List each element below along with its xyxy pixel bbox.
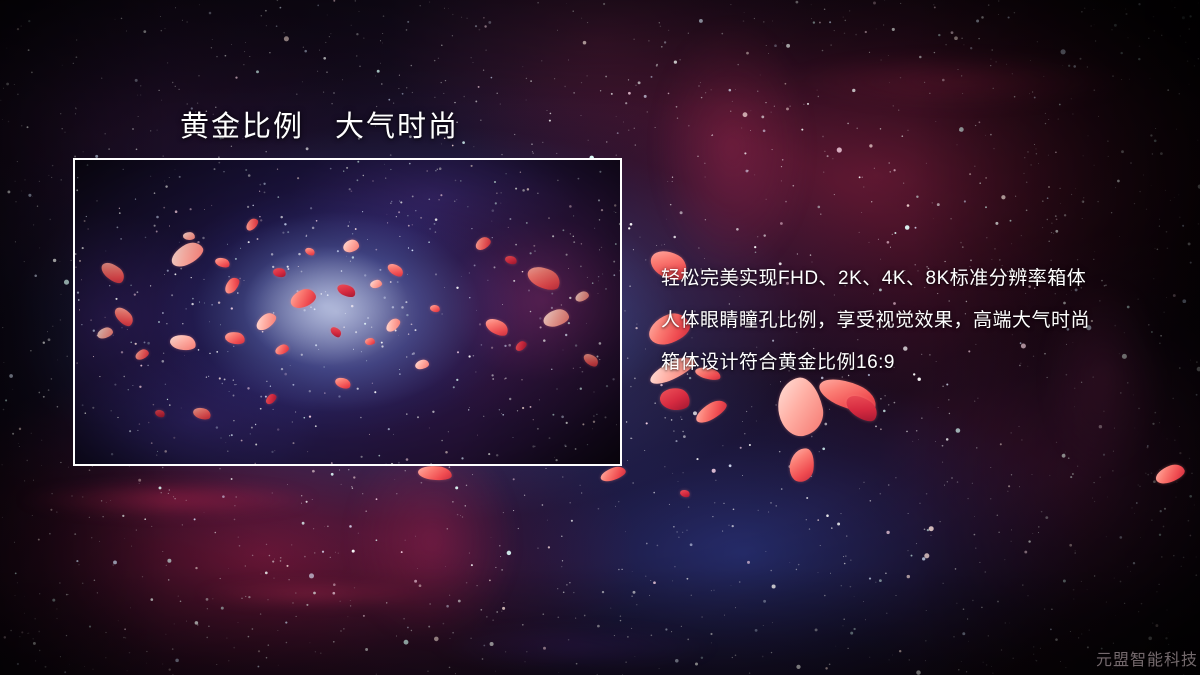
petal bbox=[1153, 461, 1187, 486]
body-line-2: 人体眼睛瞳孔比例，享受视觉效果，高端大气时尚 bbox=[661, 300, 1181, 342]
body-text-block: 轻松完美实现FHD、2K、4K、8K标准分辨率箱体 人体眼睛瞳孔比例，享受视觉效… bbox=[661, 258, 1181, 384]
petal bbox=[417, 464, 452, 481]
body-line-1: 轻松完美实现FHD、2K、4K、8K标准分辨率箱体 bbox=[661, 258, 1181, 300]
petal bbox=[842, 390, 881, 426]
petal bbox=[693, 397, 730, 427]
petal bbox=[679, 489, 691, 499]
petal bbox=[599, 464, 627, 483]
framed-picture bbox=[73, 158, 622, 466]
petal bbox=[658, 386, 691, 413]
body-line-3: 箱体设计符合黄金比例16:9 bbox=[661, 342, 1181, 384]
watermark: 元盟智能科技 bbox=[1096, 646, 1198, 670]
petal bbox=[788, 446, 816, 483]
framed-picture-vignette bbox=[75, 160, 620, 464]
page-title: 黄金比例 大气时尚 bbox=[180, 103, 459, 145]
presentation-slide: 黄金比例 大气时尚 轻松完美实现FHD、2K、4K、8K标准分辨率箱体 人体眼睛… bbox=[0, 0, 1200, 675]
